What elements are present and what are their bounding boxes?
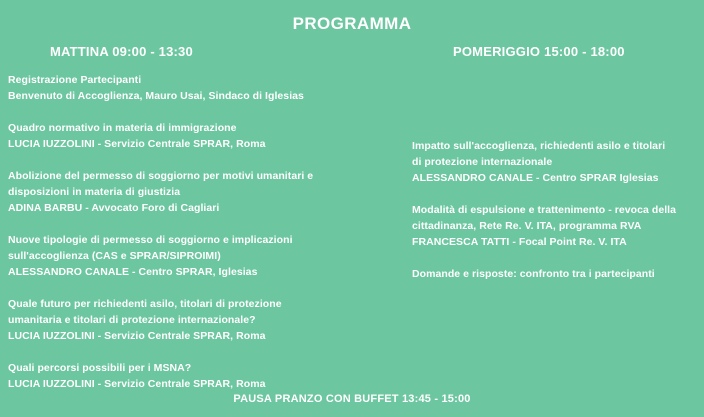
schedule-entry: Quali percorsi possibili per i MSNA?LUCI… (8, 360, 388, 392)
session-header-afternoon: POMERIGGIO 15:00 - 18:00 (453, 43, 625, 61)
session-topic: Modalità di espulsione e trattenimento -… (412, 202, 700, 218)
afternoon-schedule-column: Impatto sull'accoglienza, richiedenti as… (412, 138, 700, 282)
schedule-entry: Abolizione del permesso di soggiorno per… (8, 168, 388, 216)
session-detail: LUCIA IUZZOLINI - Servizio Centrale SPRA… (8, 136, 388, 152)
session-topic: Abolizione del permesso di soggiorno per… (8, 168, 388, 184)
schedule-entry: Modalità di espulsione e trattenimento -… (412, 202, 700, 250)
session-headers: MATTINA 09:00 - 13:30 POMERIGGIO 15:00 -… (0, 43, 704, 63)
session-topic: Registrazione Partecipanti (8, 72, 388, 88)
session-topic: Nuove tipologie di permesso di soggiorno… (8, 232, 388, 248)
session-topic: Quadro normativo in materia di immigrazi… (8, 120, 388, 136)
lunch-break-note: PAUSA PRANZO CON BUFFET 13:45 - 15:00 (0, 392, 704, 406)
session-detail: LUCIA IUZZOLINI - Servizio Centrale SPRA… (8, 328, 388, 344)
schedule-entry: Impatto sull'accoglienza, richiedenti as… (412, 138, 700, 186)
schedule-entry: Nuove tipologie di permesso di soggiorno… (8, 232, 388, 280)
session-header-morning: MATTINA 09:00 - 13:30 (50, 43, 193, 61)
session-detail: FRANCESCA TATTI - Focal Point Re. V. ITA (412, 234, 700, 250)
session-detail: di protezione internazionale (412, 154, 700, 170)
session-topic: Impatto sull'accoglienza, richiedenti as… (412, 138, 700, 154)
session-detail: disposizioni in materia di giustizia (8, 184, 388, 200)
schedule-entry: Domande e risposte: confronto tra i part… (412, 266, 700, 282)
schedule-entry: Quale futuro per richiedenti asilo, tito… (8, 296, 388, 344)
schedule-entry: Registrazione PartecipantiBenvenuto di A… (8, 72, 388, 104)
session-detail: LUCIA IUZZOLINI - Servizio Centrale SPRA… (8, 376, 388, 392)
session-detail: ALESSANDRO CANALE - Centro SPRAR, Iglesi… (8, 264, 388, 280)
session-detail: ADINA BARBU - Avvocato Foro di Cagliari (8, 200, 388, 216)
session-topic: Quale futuro per richiedenti asilo, tito… (8, 296, 388, 312)
schedule-entry: Quadro normativo in materia di immigrazi… (8, 120, 388, 152)
session-detail: umanitaria e titolari di protezione inte… (8, 312, 388, 328)
session-detail: ALESSANDRO CANALE - Centro SPRAR Iglesia… (412, 170, 700, 186)
programme-poster: PROGRAMMA MATTINA 09:00 - 13:30 POMERIGG… (0, 0, 704, 417)
session-detail: cittadinanza, Rete Re. V. ITA, programma… (412, 218, 700, 234)
session-detail: Benvenuto di Accoglienza, Mauro Usai, Si… (8, 88, 388, 104)
session-topic: Domande e risposte: confronto tra i part… (412, 266, 700, 282)
page-title: PROGRAMMA (0, 14, 704, 34)
session-topic: Quali percorsi possibili per i MSNA? (8, 360, 388, 376)
morning-schedule-column: Registrazione PartecipantiBenvenuto di A… (8, 72, 388, 392)
session-detail: sull'accoglienza (CAS e SPRAR/SIPROIMI) (8, 248, 388, 264)
